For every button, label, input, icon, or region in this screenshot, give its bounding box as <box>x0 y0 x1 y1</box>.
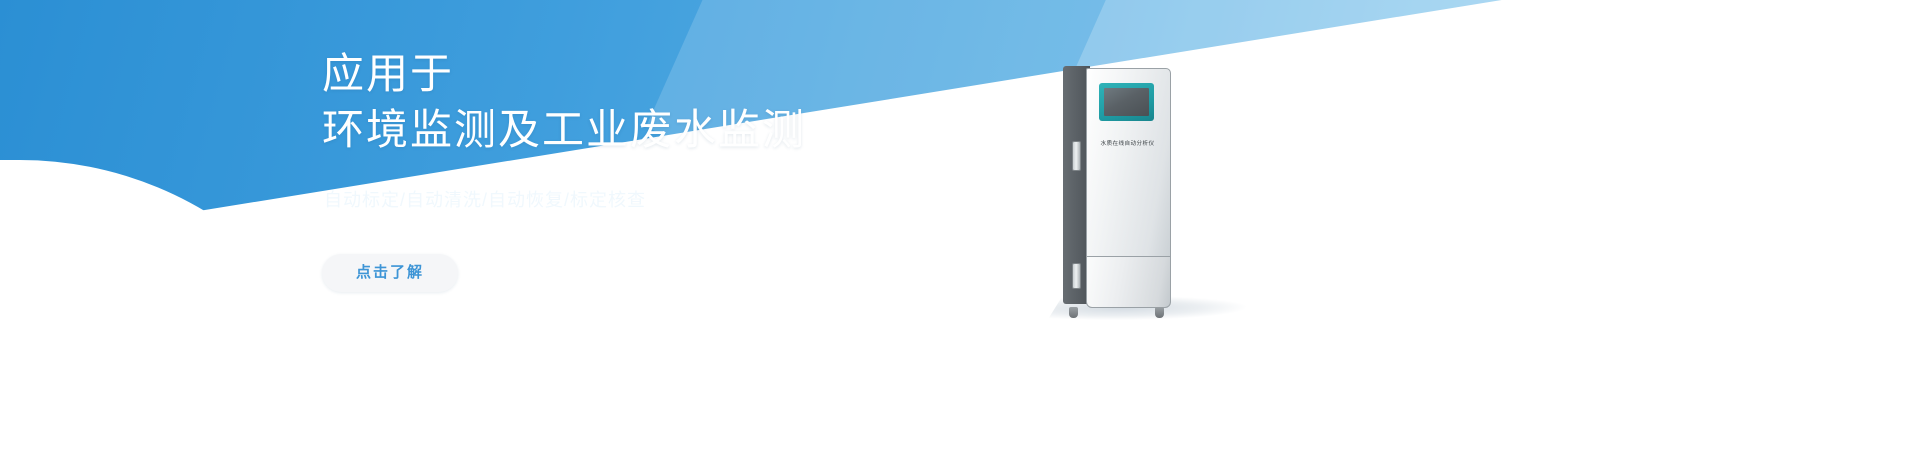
learn-more-button[interactable]: 点击了解 <box>322 254 458 292</box>
device-screen <box>1104 88 1149 116</box>
banner-subtitle: 自动标定/自动清洗/自动恢复/标定核查 <box>324 186 1062 212</box>
water-quality-analyzer-device: 水质在线自动分析仪 <box>1063 66 1169 311</box>
device-handle-upper <box>1072 141 1081 171</box>
promo-banner: 水质在线自动分析仪 应用于 环境监测及工业废水监测 自动标定/自动清洗/自动恢复… <box>0 0 1920 450</box>
banner-content: 应用于 环境监测及工业废水监测 自动标定/自动清洗/自动恢复/标定核查 点击了解 <box>322 46 1062 292</box>
device-caster-left <box>1069 307 1078 318</box>
device-lower-cabinet <box>1086 256 1171 308</box>
device-caster-right <box>1155 307 1164 318</box>
device-handle-lower <box>1072 263 1081 289</box>
device-label: 水质在线自动分析仪 <box>1086 139 1169 147</box>
device-screen-bezel <box>1099 83 1154 121</box>
headline-line-1: 应用于 <box>322 50 454 97</box>
headline-line-2: 环境监测及工业废水监测 <box>322 102 1062 158</box>
page-title: 应用于 环境监测及工业废水监测 <box>322 46 1062 158</box>
